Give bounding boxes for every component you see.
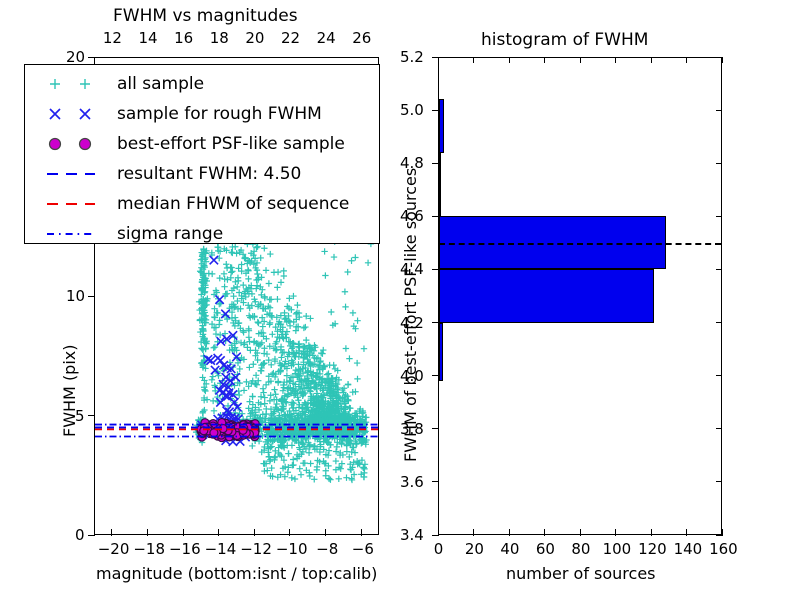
top-tick-label: 12 bbox=[103, 31, 122, 46]
histogram-y-tick-label: 3.4 bbox=[400, 528, 424, 543]
histogram-x-tick-top bbox=[722, 57, 723, 63]
scatter-x-tick-label: −18 bbox=[133, 542, 165, 557]
scatter-x-axis-label: magnitude (bottom:isnt / top:calib) bbox=[96, 566, 377, 582]
histogram-y-tick bbox=[432, 481, 439, 482]
histogram-x-tick bbox=[438, 529, 439, 536]
scatter-y-tick bbox=[88, 296, 95, 297]
histogram-x-tick-top bbox=[473, 57, 474, 63]
circle-icon bbox=[33, 129, 117, 159]
histogram-y-tick-label: 5.2 bbox=[400, 50, 424, 65]
scatter-x-tick bbox=[147, 529, 148, 536]
histogram-y-tick bbox=[432, 322, 439, 323]
left-panel-title: FWHM vs magnitudes bbox=[113, 8, 298, 25]
histogram-y-tick bbox=[432, 428, 439, 429]
histogram-x-tick-top bbox=[438, 57, 439, 63]
scatter-x-tick-label: −12 bbox=[240, 542, 272, 557]
histogram-y-tick bbox=[432, 216, 439, 217]
histogram-y-tick-right bbox=[716, 375, 722, 376]
histogram-y-tick-right bbox=[716, 269, 722, 270]
histogram-x-tick-top bbox=[651, 57, 652, 63]
legend: all samplesample for rough FWHMbest-effo… bbox=[24, 64, 380, 244]
scatter-x-tick-label: −16 bbox=[169, 542, 201, 557]
scatter-y-tick-label: 0 bbox=[75, 528, 85, 543]
histogram-x-tick-label: 140 bbox=[674, 542, 703, 557]
histogram-x-tick-top bbox=[509, 57, 510, 63]
legend-item-label: median FHWM of sequence bbox=[117, 196, 349, 213]
median-fwhm-line bbox=[439, 243, 721, 245]
histogram-x-tick-label: 40 bbox=[500, 542, 519, 557]
histogram-bar bbox=[439, 99, 444, 152]
scatter-x-tick bbox=[218, 529, 219, 536]
histogram-y-axis-label: FWHM of best-effort PSF-like sources bbox=[403, 168, 419, 462]
scatter-x-tick bbox=[325, 529, 326, 536]
histogram-y-tick bbox=[432, 375, 439, 376]
legend-item[interactable]: sigma range bbox=[33, 219, 379, 249]
scatter-x-tick bbox=[361, 529, 362, 536]
scatter-x-tick-label: −10 bbox=[276, 542, 308, 557]
legend-item[interactable]: best-effort PSF-like sample bbox=[33, 129, 379, 159]
histogram-x-tick-label: 80 bbox=[571, 542, 590, 557]
histogram-y-tick bbox=[432, 163, 439, 164]
histogram-y-tick-right bbox=[716, 163, 722, 164]
scatter-x-tick-label: −14 bbox=[205, 542, 237, 557]
legend-rows: all samplesample for rough FWHMbest-effo… bbox=[25, 65, 379, 249]
top-tick-label: 16 bbox=[174, 31, 193, 46]
histogram-x-tick bbox=[651, 529, 652, 536]
scatter-y-tick-label: 10 bbox=[66, 289, 85, 304]
cross-icon bbox=[33, 99, 117, 129]
histogram-x-tick-label: 0 bbox=[434, 542, 444, 557]
legend-item-label: all sample bbox=[117, 76, 204, 93]
scatter-x-tick bbox=[289, 529, 290, 536]
scatter-y-tick bbox=[88, 57, 95, 58]
histogram-x-tick-label: 20 bbox=[465, 542, 484, 557]
histogram-x-tick-top bbox=[686, 57, 687, 63]
scatter-x-tick bbox=[111, 529, 112, 536]
histogram-bar bbox=[439, 323, 443, 381]
plus-icon bbox=[33, 69, 117, 99]
legend-item-label: sigma range bbox=[117, 226, 223, 243]
scatter-x-tick-label: −8 bbox=[316, 542, 338, 557]
histogram-x-tick-top bbox=[580, 57, 581, 63]
figure-canvas: FWHM vs magnitudes 1214161820222426 0510… bbox=[0, 0, 800, 600]
dashed-line-icon bbox=[33, 189, 117, 219]
histogram-x-tick bbox=[722, 529, 723, 536]
histogram-y-tick-right bbox=[716, 110, 722, 111]
scatter-y-tick-label: 20 bbox=[66, 50, 85, 65]
histogram-y-tick-right bbox=[716, 322, 722, 323]
scatter-x-tick bbox=[183, 529, 184, 536]
top-tick-label: 26 bbox=[352, 31, 371, 46]
dashdot-line-icon bbox=[33, 219, 117, 249]
histogram-x-tick-label: 100 bbox=[603, 542, 632, 557]
legend-item-label: best-effort PSF-like sample bbox=[117, 136, 345, 153]
histogram-x-tick-top bbox=[544, 57, 545, 63]
top-tick-label: 24 bbox=[317, 31, 336, 46]
histogram-y-tick-right bbox=[716, 481, 722, 482]
histogram-x-tick-label: 120 bbox=[638, 542, 667, 557]
legend-item[interactable]: all sample bbox=[33, 69, 379, 99]
top-tick-label: 22 bbox=[281, 31, 300, 46]
legend-item[interactable]: median FHWM of sequence bbox=[33, 189, 379, 219]
scatter-y-tick bbox=[88, 415, 95, 416]
histogram-y-tick-right bbox=[716, 216, 722, 217]
top-tick-label: 14 bbox=[138, 31, 157, 46]
histogram-x-tick bbox=[580, 529, 581, 536]
histogram-x-axis-label: number of sources bbox=[506, 566, 656, 582]
histogram-x-tick bbox=[544, 529, 545, 536]
legend-item-label: sample for rough FWHM bbox=[117, 106, 322, 123]
histogram-bar bbox=[439, 153, 441, 217]
histogram-x-tick bbox=[686, 529, 687, 536]
histogram-y-tick bbox=[432, 110, 439, 111]
histogram-x-tick-label: 160 bbox=[709, 542, 738, 557]
histogram-x-tick-label: 60 bbox=[536, 542, 555, 557]
scatter-x-tick-label: −6 bbox=[352, 542, 374, 557]
histogram-bar bbox=[439, 269, 654, 322]
histogram-x-tick bbox=[615, 529, 616, 536]
legend-item[interactable]: resultant FWHM: 4.50 bbox=[33, 159, 379, 189]
scatter-y-axis-label: FWHM (pix) bbox=[62, 345, 78, 438]
histogram-x-tick bbox=[509, 529, 510, 536]
histogram-x-tick bbox=[473, 529, 474, 536]
right-panel-title: histogram of FWHM bbox=[481, 32, 648, 49]
scatter-x-tick-label: −20 bbox=[98, 542, 130, 557]
histogram-y-tick-right bbox=[716, 428, 722, 429]
histogram-y-tick-label: 3.6 bbox=[400, 475, 424, 490]
scatter-x-tick bbox=[254, 529, 255, 536]
histogram-plot-area[interactable] bbox=[438, 57, 722, 535]
dashed-line-icon bbox=[33, 159, 117, 189]
histogram-x-tick-top bbox=[615, 57, 616, 63]
legend-item-label: resultant FWHM: 4.50 bbox=[117, 166, 301, 183]
histogram-y-tick-label: 5.0 bbox=[400, 103, 424, 118]
top-tick-label: 20 bbox=[245, 31, 264, 46]
histogram-y-tick bbox=[432, 269, 439, 270]
scatter-y-tick bbox=[88, 535, 95, 536]
legend-item[interactable]: sample for rough FWHM bbox=[33, 99, 379, 129]
top-tick-label: 18 bbox=[210, 31, 229, 46]
